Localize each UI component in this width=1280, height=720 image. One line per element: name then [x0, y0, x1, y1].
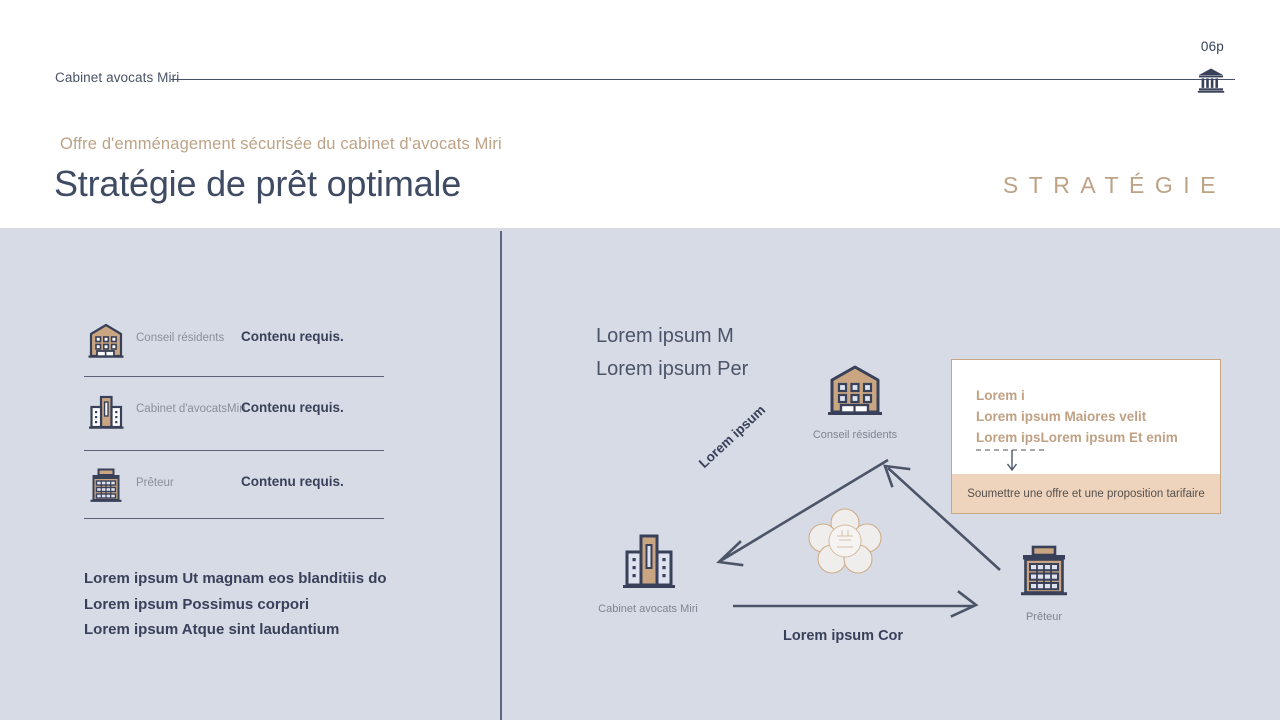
- callout-box[interactable]: Lorem i Lorem ipsum Maiores velit Lorem …: [951, 359, 1221, 514]
- left-panel: Conseil résidents Contenu requis.: [0, 228, 500, 720]
- list-item-label: Cabinet d'avocatsMiri: [136, 403, 246, 415]
- diagram-node-label: Cabinet avocats Miri: [588, 603, 708, 615]
- list-item[interactable]: Conseil résidents Contenu requis.: [84, 318, 394, 374]
- bullet-line: Lorem ipsum Atque sint laudantium: [84, 617, 484, 643]
- header-rule: [171, 79, 1235, 80]
- list-item-label: Conseil résidents: [136, 332, 224, 344]
- page-subtitle: Offre d'emménagement sécurisée du cabine…: [60, 135, 502, 154]
- diagram-node-conseil-residents[interactable]: Conseil résidents: [795, 358, 915, 441]
- callout-footer: Soumettre une offre et une proposition t…: [952, 474, 1220, 513]
- bank-building-icon: [84, 463, 128, 507]
- office-tower-icon: [84, 389, 128, 433]
- page-number: 06p: [1201, 39, 1224, 54]
- bullet-list: Lorem ipsum Ut magnam eos blanditiis do …: [84, 566, 484, 643]
- callout-line: Lorem ipsLorem ipsum Et enim: [976, 427, 1178, 448]
- brand-name: Cabinet avocats Miri: [55, 70, 179, 85]
- flower-emblem-icon: [806, 506, 884, 576]
- brand-row: Cabinet avocats Miri: [55, 70, 1225, 90]
- diagram-node-cabinet-avocats[interactable]: Cabinet avocats Miri: [588, 528, 708, 615]
- apartment-building-icon: [84, 318, 128, 362]
- list-separator: [84, 450, 384, 451]
- list-item[interactable]: Prêteur Contenu requis.: [84, 463, 394, 519]
- list-item-value: Contenu requis.: [241, 329, 344, 344]
- list-separator: [84, 518, 384, 519]
- list-item-label: Prêteur: [136, 477, 174, 489]
- bullet-line: Lorem ipsum Possimus corpori: [84, 592, 484, 618]
- bullet-line: Lorem ipsum Ut magnam eos blanditiis do: [84, 566, 484, 592]
- callout-line: Lorem ipsum Maiores velit: [976, 406, 1178, 427]
- callout-line: Lorem i: [976, 385, 1178, 406]
- callout-footer-text: Soumettre une offre et une proposition t…: [967, 488, 1205, 500]
- list-item-value: Contenu requis.: [241, 474, 344, 489]
- bank-building-icon: [984, 540, 1104, 607]
- diagram-node-label: Prêteur: [984, 611, 1104, 623]
- list-item-value: Contenu requis.: [241, 400, 344, 415]
- diagram-node-preteur[interactable]: Prêteur: [984, 540, 1104, 623]
- callout-text: Lorem i Lorem ipsum Maiores velit Lorem …: [976, 385, 1178, 448]
- courthouse-icon: [1197, 66, 1225, 94]
- diagram-node-label: Conseil résidents: [795, 429, 915, 441]
- page-title: Stratégie de prêt optimale: [54, 163, 461, 205]
- header-band: Cabinet avocats Miri 06p Offre d'emménag…: [0, 0, 1280, 228]
- right-panel: Lorem ipsum M Lorem ipsum Per Lorem ipsu…: [500, 228, 1280, 720]
- section-word: STRATÉGIE: [1003, 172, 1226, 199]
- office-tower-icon: [588, 528, 708, 599]
- apartment-building-icon: [795, 358, 915, 425]
- slide-root: Cabinet avocats Miri 06p Offre d'emménag…: [0, 0, 1280, 720]
- list-item[interactable]: Cabinet d'avocatsMiri Contenu requis.: [84, 389, 394, 445]
- diagram-flow-label-bottom: Lorem ipsum Cor: [783, 628, 903, 644]
- list-separator: [84, 376, 384, 377]
- dashed-down-arrow-icon: [976, 448, 1056, 476]
- callout-body: Lorem i Lorem ipsum Maiores velit Lorem …: [952, 360, 1220, 474]
